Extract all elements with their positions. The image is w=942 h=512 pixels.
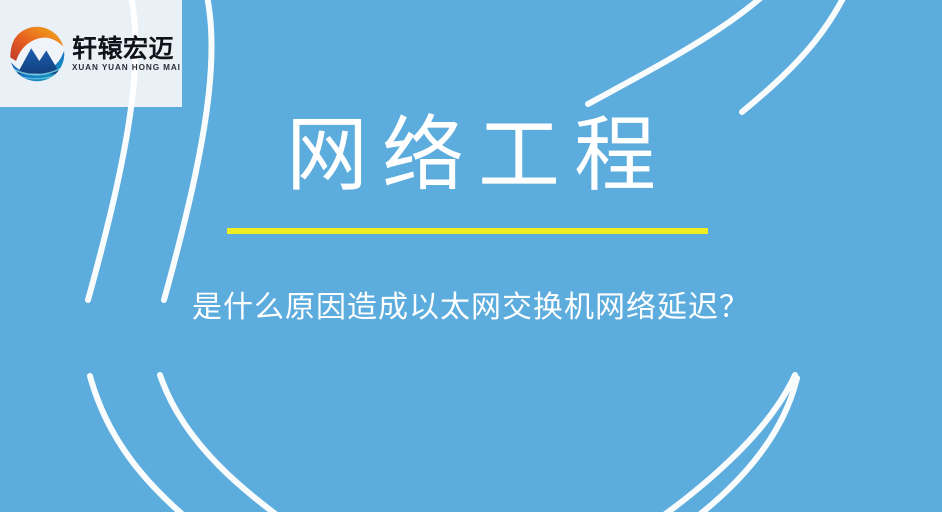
xuanyuan-hongmai-logo-icon bbox=[8, 25, 66, 83]
slide-subtitle: 是什么原因造成以太网交换机网络延迟？ bbox=[0, 286, 942, 330]
brand-logo-plate: 轩辕宏迈 XUAN YUAN HONG MAI bbox=[0, 0, 182, 107]
slide-title: 网络工程 bbox=[0, 108, 942, 204]
arc-top-right-outer bbox=[742, 0, 860, 112]
logo-chinese-name: 轩辕宏迈 bbox=[72, 36, 181, 62]
title-underline-rule bbox=[227, 228, 708, 234]
arc-bottom-right-outer bbox=[616, 375, 795, 512]
arc-top-right-inner bbox=[588, 0, 800, 104]
arc-bottom-left-outer bbox=[160, 375, 330, 512]
arc-bottom-left-inner bbox=[90, 376, 236, 512]
slide-canvas: 轩辕宏迈 XUAN YUAN HONG MAI 网络工程 是什么原因造成以太网交… bbox=[0, 0, 942, 512]
arc-bottom-right-inner bbox=[640, 378, 797, 512]
logo-wordmark: 轩辕宏迈 XUAN YUAN HONG MAI bbox=[72, 36, 181, 73]
logo-pinyin-name: XUAN YUAN HONG MAI bbox=[72, 63, 181, 73]
logo-lockup: 轩辕宏迈 XUAN YUAN HONG MAI bbox=[8, 25, 181, 83]
